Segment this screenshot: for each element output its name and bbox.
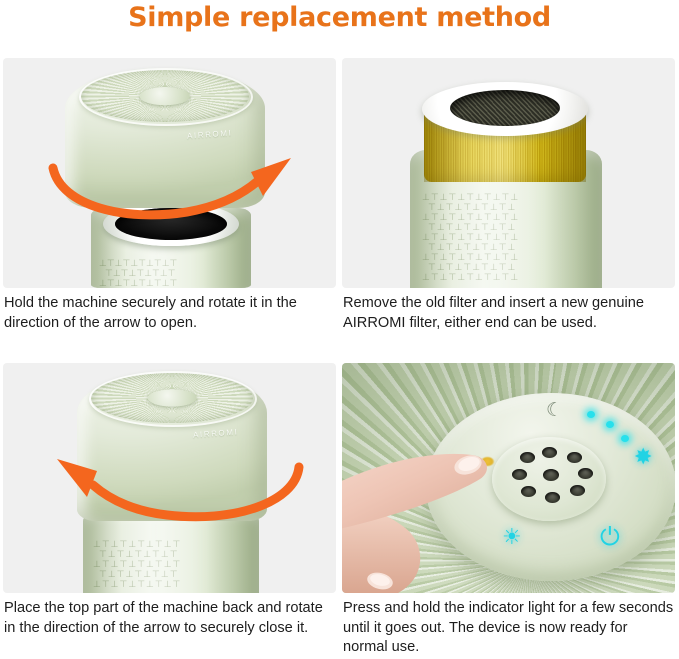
indicator-dot [606,421,614,428]
step-1-photo: ⊥⊤⊥⊤⊥⊤⊥⊤⊥⊤ ⊤⊥⊤⊥⊤⊥⊤⊥⊤ ⊥⊤⊥⊤⊥⊤⊥⊤⊥⊤ AIRROMI [3,58,336,288]
vent-hole [521,486,536,497]
steps-grid: ⊥⊤⊥⊤⊥⊤⊥⊤⊥⊤ ⊤⊥⊤⊥⊤⊥⊤⊥⊤ ⊥⊤⊥⊤⊥⊤⊥⊤⊥⊤ AIRROMI [0,58,679,659]
filter-core-mesh [450,90,560,126]
page-title: Simple replacement method [0,2,679,33]
step-1-caption: Hold the machine securely and rotate it … [3,294,336,333]
top-grille-rim [79,68,253,126]
step-2-photo: ⊥⊤⊥⊤⊥⊤⊥⊤⊥⊤⊥ ⊤⊥⊤⊥⊤⊥⊤⊥⊤⊥ ⊥⊤⊥⊤⊥⊤⊥⊤⊥⊤⊥ ⊤⊥⊤⊥⊤… [342,58,675,288]
finger-pointer [342,431,512,593]
step-card-3: ⊥⊤⊥⊤⊥⊤⊥⊤⊥⊤ ⊤⊥⊤⊥⊤⊥⊤⊥⊤ ⊥⊤⊥⊤⊥⊤⊥⊤⊥⊤ ⊤⊥⊤⊥⊤⊥⊤⊥… [3,363,336,638]
sleep-mode-icon[interactable]: ☾ [546,401,563,420]
vent-hole [520,452,535,463]
step-card-4: ☾ ✸ ☀ ⏻ [342,363,675,658]
brand-label: AIRROMI [187,128,233,140]
step-card-2: ⊥⊤⊥⊤⊥⊤⊥⊤⊥⊤⊥ ⊤⊥⊤⊥⊤⊥⊤⊥⊤⊥ ⊥⊤⊥⊤⊥⊤⊥⊤⊥⊤⊥ ⊤⊥⊤⊥⊤… [342,58,675,333]
rotation-arrow-counterclockwise [41,453,311,517]
vent-hole [545,492,560,503]
vent-hole-center [543,469,559,481]
fan-speed-icon[interactable]: ✸ [634,447,652,469]
indicator-dot [587,411,595,418]
step-4-caption: Press and hold the indicator light for a… [342,599,675,658]
step-4-photo: ☾ ✸ ☀ ⏻ [342,363,675,593]
infographic-page: Simple replacement method ⊥⊤⊥⊤⊥⊤⊥⊤⊥⊤ ⊤⊥⊤… [0,0,679,659]
vent-hole [542,447,557,458]
indicator-dot [621,435,629,442]
vent-hole [578,468,593,479]
vent-hole [570,485,585,496]
vent-hole [567,452,582,463]
rotation-arrow-clockwise [45,150,305,216]
power-icon[interactable]: ⏻ [600,524,620,549]
step-card-1: ⊥⊤⊥⊤⊥⊤⊥⊤⊥⊤ ⊤⊥⊤⊥⊤⊥⊤⊥⊤ ⊥⊤⊥⊤⊥⊤⊥⊤⊥⊤ AIRROMI [3,58,336,333]
vent-hole [512,469,527,480]
brand-label: AIRROMI [193,427,239,439]
purifier-base: ⊥⊤⊥⊤⊥⊤⊥⊤⊥⊤ ⊤⊥⊤⊥⊤⊥⊤⊥⊤ ⊥⊤⊥⊤⊥⊤⊥⊤⊥⊤ ⊤⊥⊤⊥⊤⊥⊤⊥… [83,511,259,593]
base-grille-pattern: ⊥⊤⊥⊤⊥⊤⊥⊤⊥⊤ ⊤⊥⊤⊥⊤⊥⊤⊥⊤ ⊥⊤⊥⊤⊥⊤⊥⊤⊥⊤ ⊤⊥⊤⊥⊤⊥⊤⊥… [83,511,259,593]
step-2-caption: Remove the old filter and insert a new g… [342,294,675,333]
top-grille-rim [89,371,257,427]
step-3-caption: Place the top part of the machine back a… [3,599,336,638]
step-3-photo: ⊥⊤⊥⊤⊥⊤⊥⊤⊥⊤ ⊤⊥⊤⊥⊤⊥⊤⊥⊤ ⊥⊤⊥⊤⊥⊤⊥⊤⊥⊤ ⊤⊥⊤⊥⊤⊥⊤⊥… [3,363,336,593]
